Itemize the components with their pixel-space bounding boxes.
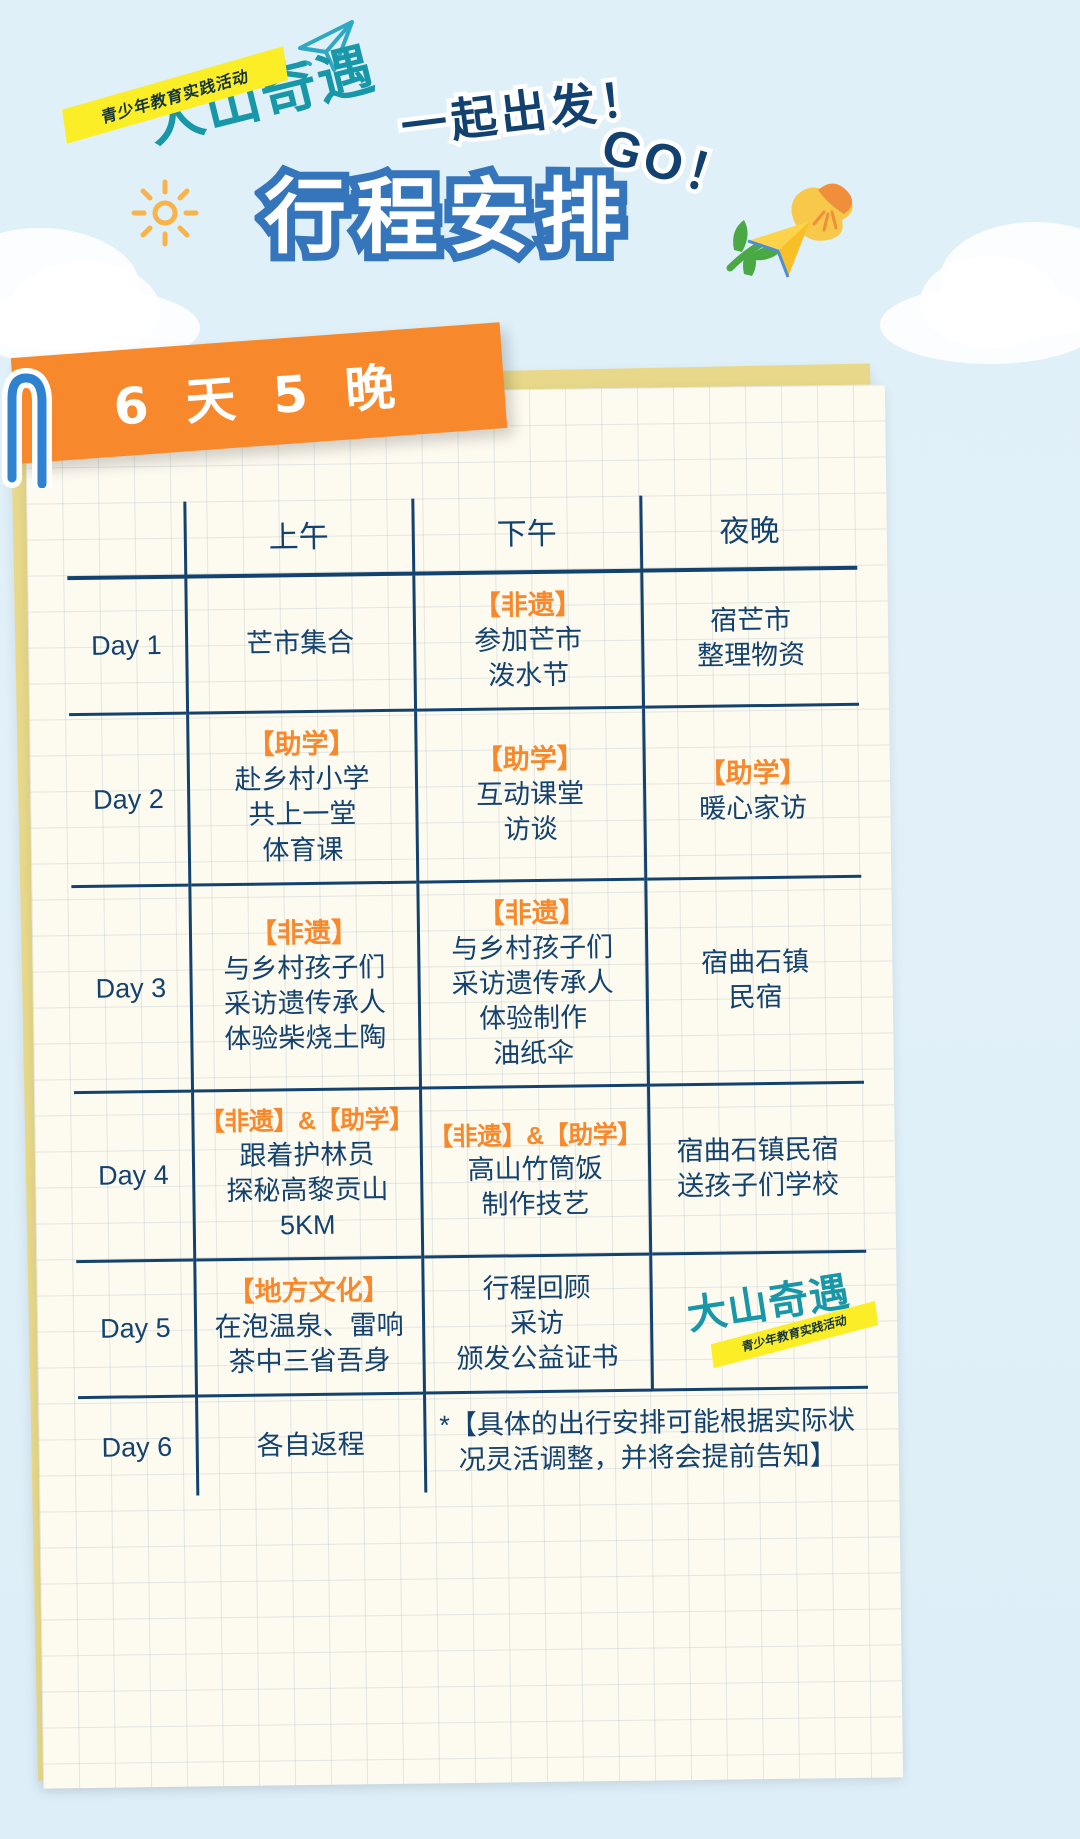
page-title: 行程安排 (264, 150, 632, 269)
watermark-name: 大山奇遇 (665, 1263, 871, 1345)
table-row: Day 2 【助学】 赴乡村小学 共上一堂 体育课 【助学】 互动课堂 访谈 【… (69, 705, 861, 887)
day-label: Day 1 (67, 577, 187, 715)
cell-line: 共上一堂 (248, 799, 356, 830)
activity-tag: 【地方文化】 (202, 1273, 415, 1311)
cell-line: 体育课 (262, 834, 343, 865)
cell-morning: 【非遗】&【助学】 跟着护林员 探秘高黎贡山 5KM (192, 1088, 422, 1260)
cell-line: 宿芒市 (710, 604, 791, 635)
day-label: Day 5 (76, 1260, 196, 1398)
table-header-row: 上午 下午 夜晚 (66, 493, 857, 578)
cell-line: 采访遗传承人 (451, 967, 613, 999)
cell-line: 各自返程 (256, 1429, 364, 1460)
table-row: Day 1 芒市集合 【非遗】 参加芒市 泼水节 宿芒市 整理物资 (67, 568, 859, 715)
cell-line: 行程回顾 (482, 1272, 590, 1303)
activity-tag: 【非遗】 (197, 915, 410, 953)
cell-line: 民宿 (728, 982, 782, 1013)
cell-line: 跟着护林员 (239, 1139, 374, 1171)
paper-plane-icon (740, 215, 818, 285)
sun-icon (130, 178, 200, 248)
cell-line: 油纸伞 (493, 1038, 574, 1069)
cell-morning: 各自返程 (196, 1393, 425, 1496)
activity-tag: 【非遗】 (425, 894, 638, 932)
cell-line: 颁发公益证书 (456, 1342, 618, 1374)
day-label: Day 4 (74, 1091, 194, 1261)
activity-tag: 【非遗】&【助学】 (428, 1118, 641, 1153)
cell-night: 宿曲石镇民宿 送孩子们学校 (648, 1082, 866, 1254)
activity-tag: 【非遗】 (421, 587, 634, 625)
activity-tag: 【非遗】&【助学】 (200, 1104, 413, 1139)
cell-line: 茶中三省吾身 (228, 1345, 390, 1377)
page-header: 大山奇遇 青少年教育实践活动 一起出发！ GO！ 行程安排 (0, 0, 1080, 320)
table-row: Day 3 【非遗】 与乡村孩子们 采访遗传承人 体验柴烧土陶 【非遗】 与乡村… (71, 876, 864, 1093)
cell-line: 宿曲石镇民宿 (676, 1134, 838, 1166)
cell-line: 泼水节 (488, 660, 569, 691)
cell-line: 与乡村孩子们 (223, 952, 385, 984)
cell-line: 与乡村孩子们 (451, 932, 613, 964)
cell-night: 宿曲石镇 民宿 (645, 876, 864, 1085)
cell-line: 参加芒市 (474, 625, 582, 656)
cell-line: 在泡温泉、雷响 (214, 1310, 403, 1342)
cell-line: 5KM (280, 1210, 336, 1241)
cell-afternoon: 【助学】 互动课堂 访谈 (415, 707, 645, 881)
cell-line: 芒市集合 (246, 627, 354, 658)
activity-tag: 【助学】 (423, 741, 636, 779)
table-row: Day 6 各自返程 *【具体的出行安排可能根据实际状况灵活调整，并将会提前告知… (78, 1387, 869, 1497)
cell-line: 整理物资 (697, 639, 805, 670)
watermark-tagline: 青少年教育实践活动 (741, 1313, 847, 1356)
cell-night: 宿芒市 整理物资 (641, 568, 859, 708)
cell-morning: 【地方文化】 在泡温泉、雷响 茶中三省吾身 (194, 1257, 424, 1396)
activity-tag: 【助学】 (651, 755, 854, 793)
cell-line: 采访遗传承人 (224, 987, 386, 1019)
brand-watermark: 大山奇遇 青少年教育实践活动 (665, 1263, 876, 1378)
paperclip-icon (2, 358, 72, 488)
cell-line: 宿曲石镇 (701, 947, 809, 978)
schedule-paper-stack: 上午 下午 夜晚 Day 1 芒市集合 【非遗】 参加芒市 泼水节 (0, 330, 1080, 1839)
cell-line: 采访 (510, 1308, 564, 1339)
cell-line: 暖心家访 (699, 793, 807, 824)
day-label: Day 6 (78, 1396, 197, 1497)
watermark-ribbon: 青少年教育实践活动 (710, 1301, 877, 1368)
schedule-paper: 上午 下午 夜晚 Day 1 芒市集合 【非遗】 参加芒市 泼水节 (25, 384, 903, 1788)
duration-label: 6 天 5 晚 (111, 346, 407, 439)
cell-line: 体验柴烧土陶 (224, 1022, 386, 1054)
day-label: Day 3 (71, 885, 192, 1093)
cell-line: 互动课堂 (476, 778, 584, 809)
schedule-table: 上午 下午 夜晚 Day 1 芒市集合 【非遗】 参加芒市 泼水节 (66, 493, 869, 1498)
table-row: Day 4 【非遗】&【助学】 跟着护林员 探秘高黎贡山 5KM 【非遗】&【助… (74, 1082, 866, 1261)
header-cell-morning: 上午 (184, 499, 413, 577)
header-cell-afternoon: 下午 (412, 496, 641, 574)
cell-night: 【助学】 暖心家访 (643, 705, 861, 879)
cell-line: 体验制作 (479, 1002, 587, 1033)
cell-line: 探秘高黎贡山 (226, 1174, 388, 1206)
header-cell-night: 夜晚 (640, 493, 857, 571)
cell-afternoon: 【非遗】 与乡村孩子们 采访遗传承人 体验制作 油纸伞 (417, 879, 648, 1088)
cell-line: 送孩子们学校 (677, 1169, 839, 1201)
cell-morning: 【助学】 赴乡村小学 共上一堂 体育课 (187, 710, 417, 884)
cell-afternoon: 【非遗】 参加芒市 泼水节 (413, 571, 643, 711)
cell-line: 高山竹筒饭 (467, 1153, 602, 1185)
day-label: Day 2 (69, 713, 189, 886)
schedule-note: *【具体的出行安排可能根据实际状况灵活调整，并将会提前告知】 (424, 1387, 869, 1492)
table-row: Day 5 【地方文化】 在泡温泉、雷响 茶中三省吾身 行程回顾 采访 颁发公益… (76, 1251, 868, 1398)
cell-line: 制作技艺 (481, 1189, 589, 1220)
cell-morning: 芒市集合 (185, 574, 415, 714)
cell-morning: 【非遗】 与乡村孩子们 采访遗传承人 体验柴烧土陶 (189, 882, 420, 1091)
activity-tag: 【助学】 (195, 726, 408, 764)
header-cell-blank (66, 502, 185, 579)
cell-line: 访谈 (503, 814, 557, 845)
cell-afternoon: 【非遗】&【助学】 高山竹筒饭 制作技艺 (420, 1085, 650, 1257)
cell-line: 赴乡村小学 (234, 764, 369, 796)
cell-afternoon: 行程回顾 采访 颁发公益证书 (422, 1254, 652, 1393)
cell-night-watermark: 大山奇遇 青少年教育实践活动 (650, 1251, 868, 1390)
